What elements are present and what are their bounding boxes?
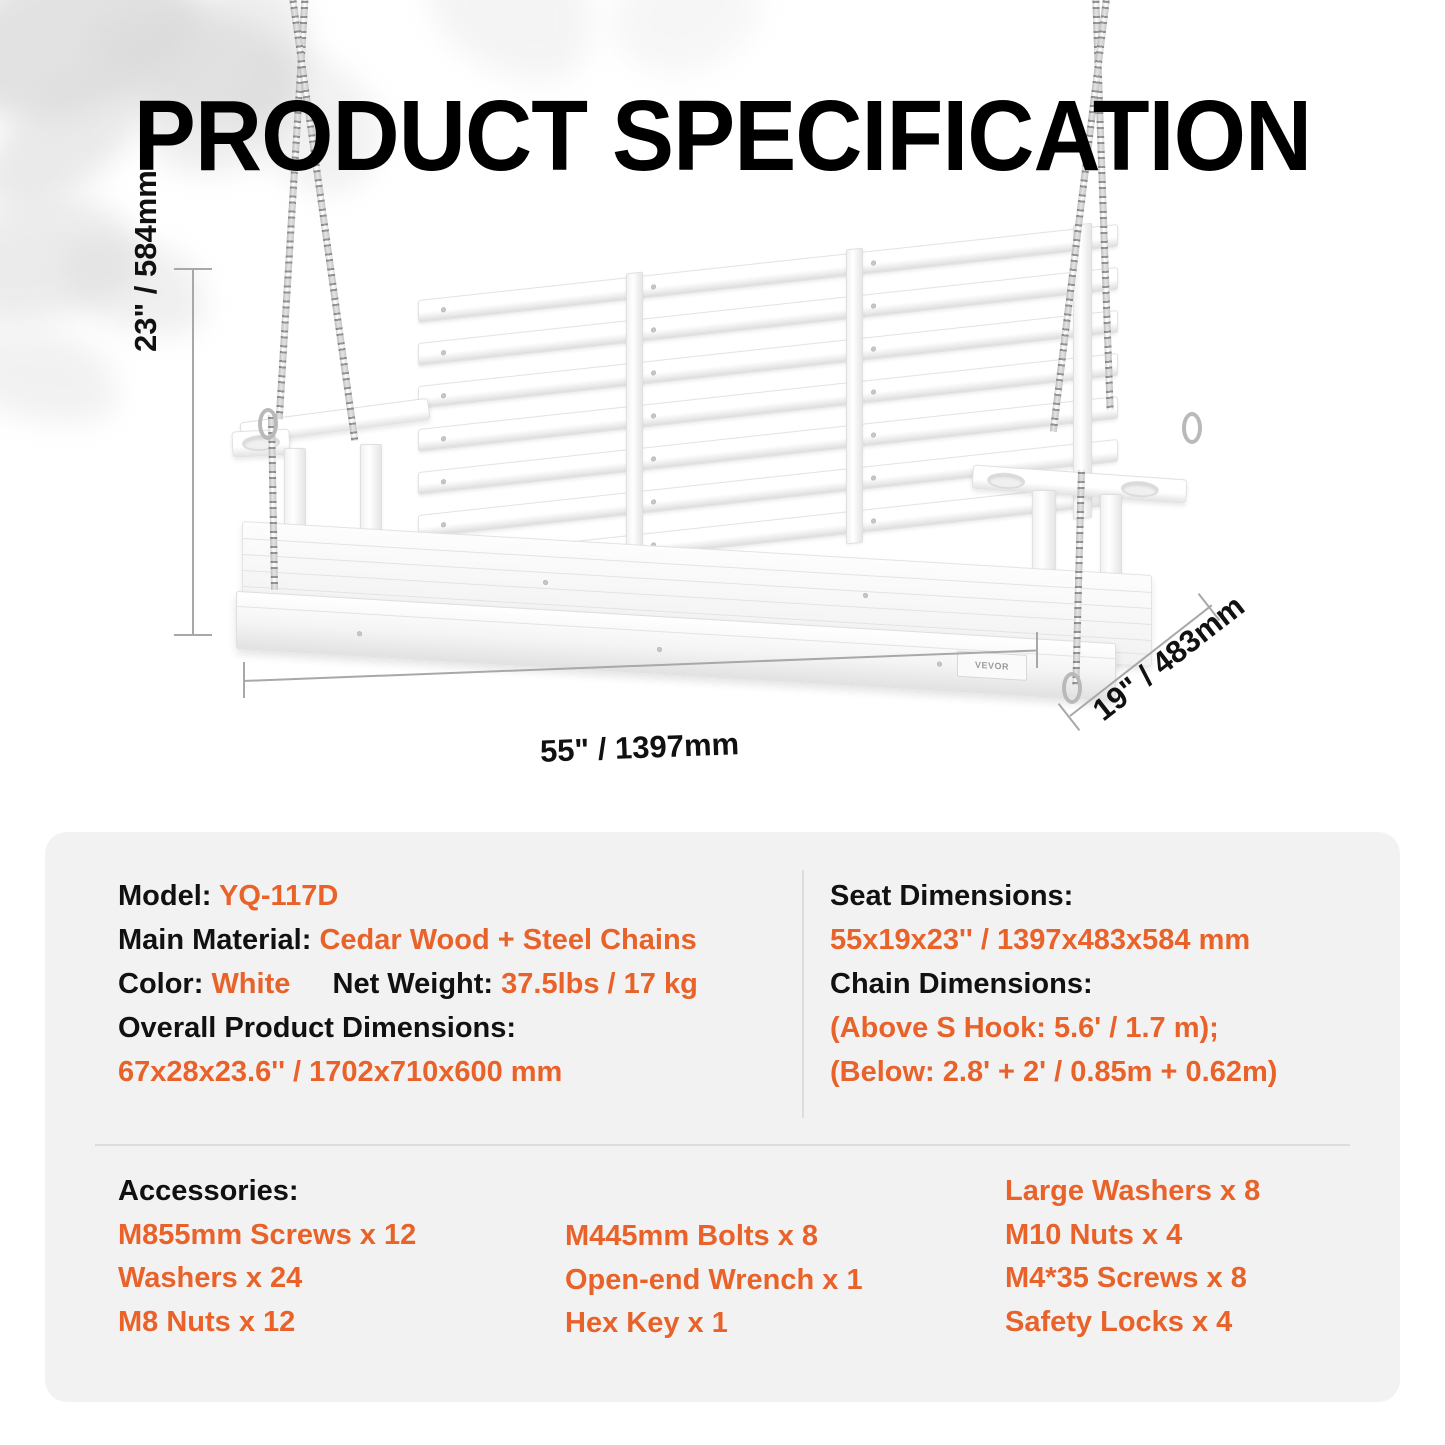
spec-row-color-weight: Color: White Net Weight: 37.5lbs / 17 kg — [118, 962, 778, 1006]
dimension-cap-depth-near — [1058, 703, 1081, 731]
color-value: White — [211, 968, 290, 1000]
cup-holder-right-inner — [987, 472, 1026, 491]
seat-dimensions-value: 55x19x23'' / 1397x483x584 mm — [830, 918, 1370, 962]
porch-swing: VEVOR — [232, 262, 1172, 702]
dimension-cap-top — [174, 268, 212, 270]
s-hook-left-icon — [258, 408, 278, 440]
weight-label: Net Weight: — [333, 968, 494, 1000]
dimension-line-height — [192, 268, 194, 636]
accessories-column-1: Accessories: M855mm Screws x 12 Washers … — [118, 1170, 548, 1344]
accessory-item: M8 Nuts x 12 — [118, 1301, 548, 1345]
accessory-item: M4*35 Screws x 8 — [1005, 1257, 1385, 1301]
back-support-post — [846, 248, 863, 545]
accessory-item: Hex Key x 1 — [565, 1302, 985, 1346]
accessory-item: M10 Nuts x 4 — [1005, 1214, 1385, 1258]
spec-row-model: Model: YQ-117D — [118, 874, 778, 918]
dimension-label-height: 23" / 584mm — [128, 170, 164, 352]
model-value: YQ-117D — [219, 880, 338, 912]
spec-column-left: Model: YQ-117D Main Material: Cedar Wood… — [118, 874, 778, 1094]
accessories-column-2: M445mm Bolts x 8 Open-end Wrench x 1 Hex… — [565, 1215, 985, 1346]
specification-panel: Model: YQ-117D Main Material: Cedar Wood… — [45, 832, 1400, 1402]
overall-dimensions-value: 67x28x23.6'' / 1702x710x600 mm — [118, 1050, 778, 1094]
dimension-cap-right — [1036, 632, 1038, 668]
seat-dimensions-label: Seat Dimensions: — [830, 874, 1370, 918]
chain-dimensions-below: (Below: 2.8' + 2' / 0.85m + 0.62m) — [830, 1050, 1370, 1094]
spec-row-material: Main Material: Cedar Wood + Steel Chains — [118, 918, 778, 962]
weight-value: 37.5lbs / 17 kg — [501, 968, 698, 1000]
spec-column-right: Seat Dimensions: 55x19x23'' / 1397x483x5… — [830, 874, 1370, 1094]
accessories-title: Accessories: — [118, 1170, 548, 1214]
accessory-item: M855mm Screws x 12 — [118, 1214, 548, 1258]
accessory-item: Large Washers x 8 — [1005, 1170, 1385, 1214]
model-label: Model: — [118, 880, 211, 912]
horizontal-divider — [95, 1144, 1350, 1146]
cup-holder-right — [1120, 480, 1159, 499]
brand-logo: VEVOR — [957, 651, 1027, 681]
s-hook-right-lower-icon — [1062, 672, 1082, 704]
color-label: Color: — [118, 968, 203, 1000]
back-support-post — [626, 272, 643, 569]
chain-dimensions-label: Chain Dimensions: — [830, 962, 1370, 1006]
material-value: Cedar Wood + Steel Chains — [319, 924, 696, 956]
dimension-cap-left — [243, 662, 245, 698]
vertical-divider — [802, 870, 804, 1118]
accessory-item: Washers x 24 — [118, 1257, 548, 1301]
page-title: PRODUCT SPECIFICATION — [51, 86, 1395, 186]
dimension-label-width: 55" / 1397mm — [539, 726, 739, 770]
accessory-item: M445mm Bolts x 8 — [565, 1215, 985, 1259]
accessories-column-3: Large Washers x 8 M10 Nuts x 4 M4*35 Scr… — [1005, 1170, 1385, 1344]
dimension-cap-bottom — [174, 634, 212, 636]
overall-dimensions-label: Overall Product Dimensions: — [118, 1006, 778, 1050]
accessory-item: Open-end Wrench x 1 — [565, 1259, 985, 1303]
chain-dimensions-above: (Above S Hook: 5.6' / 1.7 m); — [830, 1006, 1370, 1050]
s-hook-right-upper-icon — [1182, 412, 1202, 444]
accessory-item: Safety Locks x 4 — [1005, 1301, 1385, 1345]
material-label: Main Material: — [118, 924, 311, 956]
